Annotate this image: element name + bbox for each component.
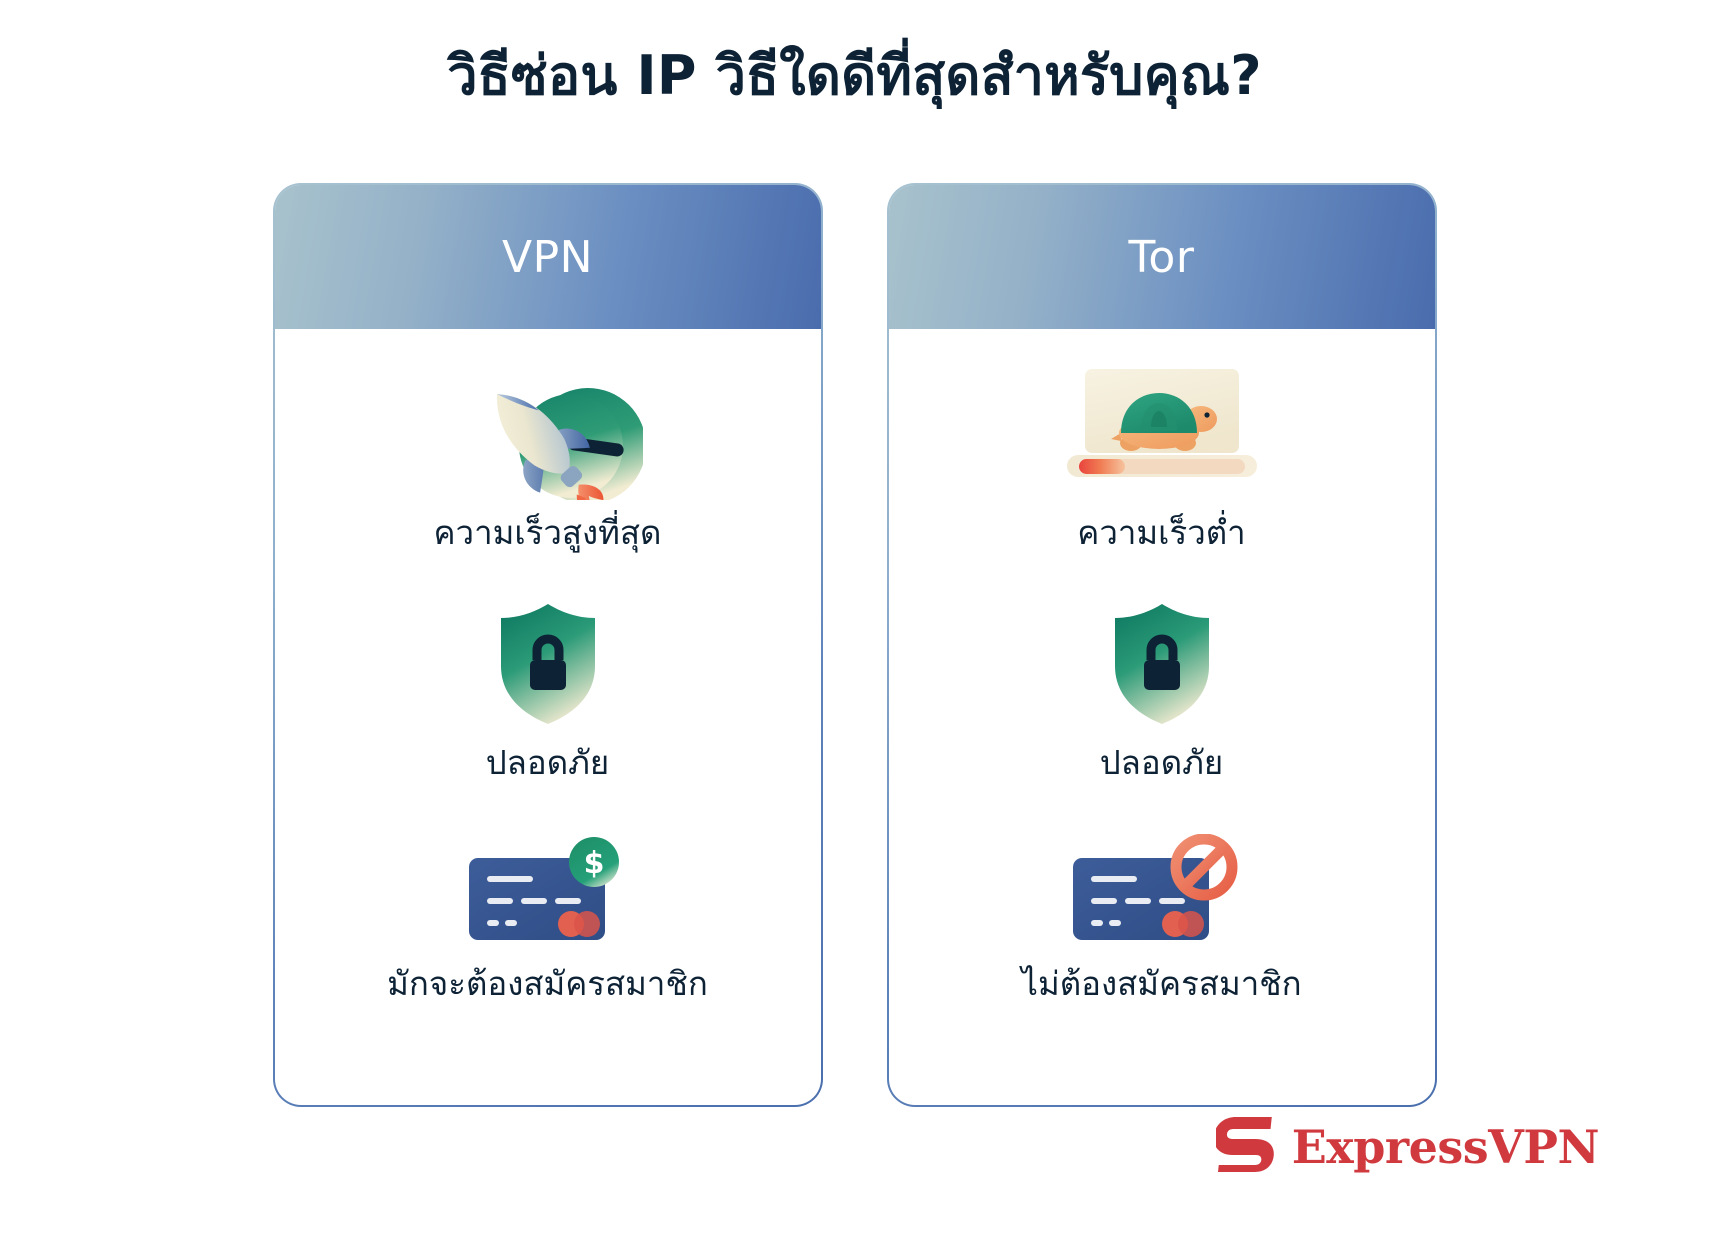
card-tor-body: ความเร็วต่ำ — [889, 329, 1435, 1105]
card-tor: Tor — [887, 183, 1437, 1107]
feature-vpn-speed-label: ความเร็วสูงที่สุด — [433, 513, 661, 553]
card-tor-header: Tor — [889, 185, 1435, 329]
card-vpn: VPN — [273, 183, 823, 1107]
feature-tor-security: ปลอดภัย — [889, 595, 1435, 783]
shield-lock-icon — [493, 595, 603, 735]
feature-tor-speed-label: ความเร็วต่ำ — [1077, 513, 1245, 553]
infographic-page: วิธีซ่อน IP วิธีใดดีที่สุดสำหรับคุณ? VPN — [0, 0, 1709, 1240]
feature-tor-payment-label: ไม่ต้องสมัครสมาชิก — [1021, 964, 1301, 1004]
svg-text:$: $ — [583, 846, 604, 881]
shield-lock-icon — [1107, 595, 1217, 735]
feature-vpn-security: ปลอดภัย — [275, 595, 821, 783]
credit-card-blocked-icon — [1067, 826, 1257, 956]
feature-vpn-payment-label: มักจะต้องสมัครสมาชิก — [387, 964, 708, 1004]
feature-tor-security-label: ปลอดภัย — [1100, 743, 1224, 783]
feature-tor-payment: ไม่ต้องสมัครสมาชิก — [889, 826, 1435, 1004]
card-vpn-title: VPN — [502, 232, 593, 283]
feature-vpn-speed: ความเร็วสูงที่สุด — [275, 355, 821, 553]
comparison-cards: VPN — [0, 183, 1709, 1107]
rocket-speedometer-icon — [453, 355, 643, 505]
feature-vpn-security-label: ปลอดภัย — [486, 743, 610, 783]
card-tor-title: Tor — [1129, 232, 1195, 283]
credit-card-dollar-icon: $ — [463, 826, 633, 956]
laptop-turtle-icon — [1057, 355, 1267, 505]
expressvpn-logo: ExpressVPN — [1216, 1116, 1599, 1178]
feature-tor-speed: ความเร็วต่ำ — [889, 355, 1435, 553]
card-vpn-header: VPN — [275, 185, 821, 329]
card-vpn-body: ความเร็วสูงที่สุด — [275, 329, 821, 1105]
expressvpn-e-mark-icon — [1216, 1116, 1278, 1178]
expressvpn-wordmark: ExpressVPN — [1292, 1120, 1599, 1174]
page-title: วิธีซ่อน IP วิธีใดดีที่สุดสำหรับคุณ? — [0, 42, 1709, 110]
feature-vpn-payment: $ มักจะต้องสมัครสมาชิก — [275, 826, 821, 1004]
